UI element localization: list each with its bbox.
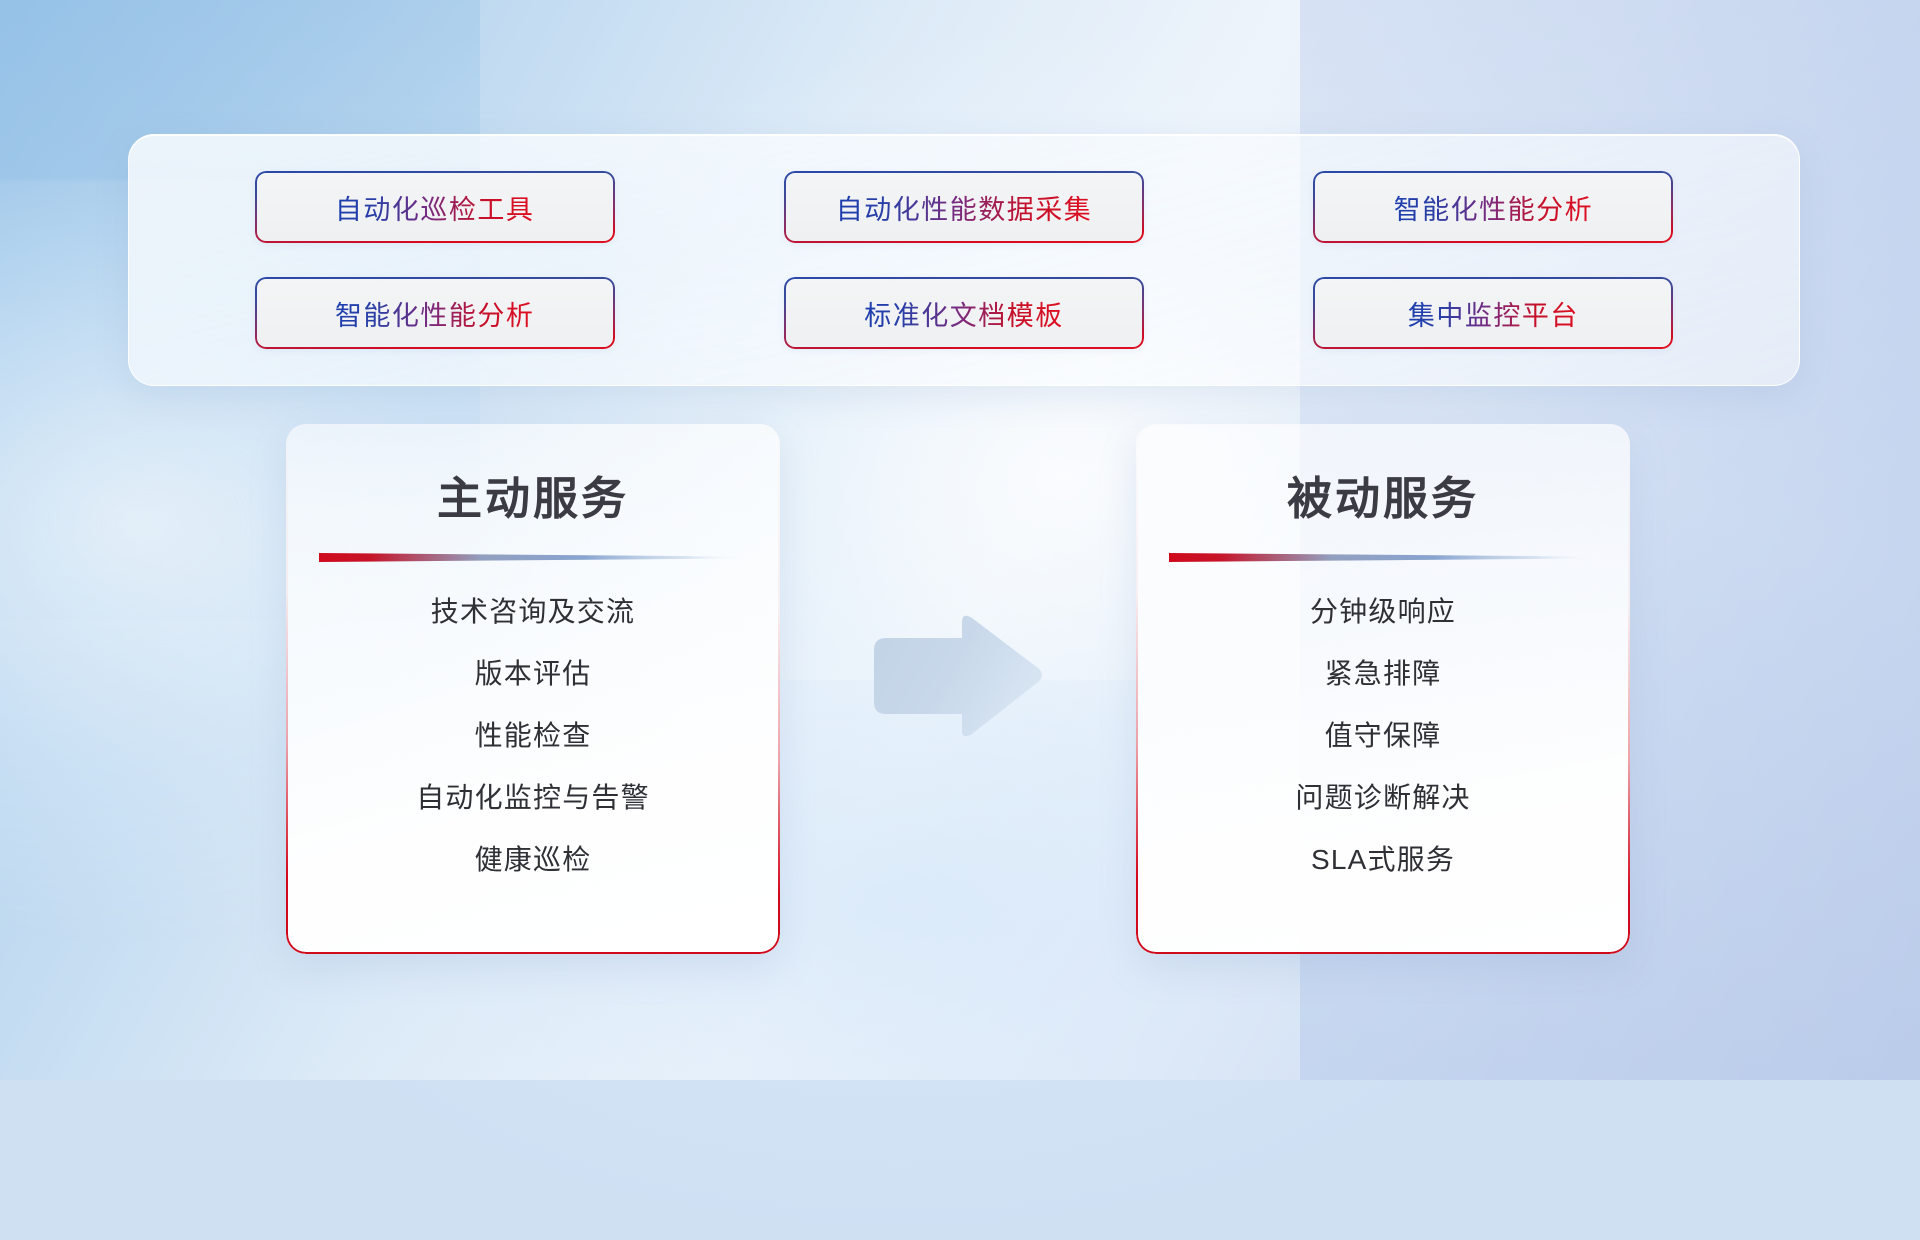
capabilities-panel: 自动化巡检工具 自动化性能数据采集 智能化性能分析 智能化性能分析 标准化文档模… [128,134,1800,386]
list-item: 紧急排障 [1325,652,1442,692]
capability-chip[interactable]: 智能化性能分析 [1313,171,1673,243]
list-item: 版本评估 [475,652,592,692]
active-service-card: 主动服务 技术咨询及交流 版本评估 性能检查 自动化监控与告警 健康巡检 [286,424,780,954]
list-item: 自动化监控与告警 [416,776,650,816]
passive-service-title: 被动服务 [1136,462,1630,527]
list-item: 健康巡检 [475,838,592,878]
capability-chip[interactable]: 自动化巡检工具 [255,171,615,243]
capability-chip[interactable]: 标准化文档模板 [784,277,1144,349]
capability-chip-label: 自动化巡检工具 [335,188,535,227]
list-item: 技术咨询及交流 [431,590,635,630]
capability-chip[interactable]: 自动化性能数据采集 [784,171,1144,243]
arrow-right-icon [866,612,1044,742]
list-item: 分钟级响应 [1310,590,1456,630]
active-service-list: 技术咨询及交流 版本评估 性能检查 自动化监控与告警 健康巡检 [286,590,780,878]
list-item: 值守保障 [1325,714,1442,754]
capability-chip[interactable]: 集中监控平台 [1313,277,1673,349]
active-service-divider [319,553,747,562]
passive-service-list: 分钟级响应 紧急排障 值守保障 问题诊断解决 SLA式服务 [1136,590,1630,878]
capability-chip-label: 标准化文档模板 [864,294,1064,333]
list-item: 问题诊断解决 [1295,776,1470,816]
passive-service-card: 被动服务 分钟级响应 紧急排障 值守保障 问题诊断解决 SLA式服务 [1136,424,1630,954]
passive-service-divider [1169,553,1597,562]
list-item: 性能检查 [475,714,592,754]
capability-chip-label: 自动化性能数据采集 [836,188,1093,227]
active-service-title: 主动服务 [286,462,780,527]
capability-chip[interactable]: 智能化性能分析 [255,277,615,349]
capability-chip-label: 智能化性能分析 [1394,188,1594,227]
capability-chip-label: 集中监控平台 [1408,294,1579,333]
list-item: SLA式服务 [1311,838,1455,878]
capability-chip-label: 智能化性能分析 [335,294,535,333]
